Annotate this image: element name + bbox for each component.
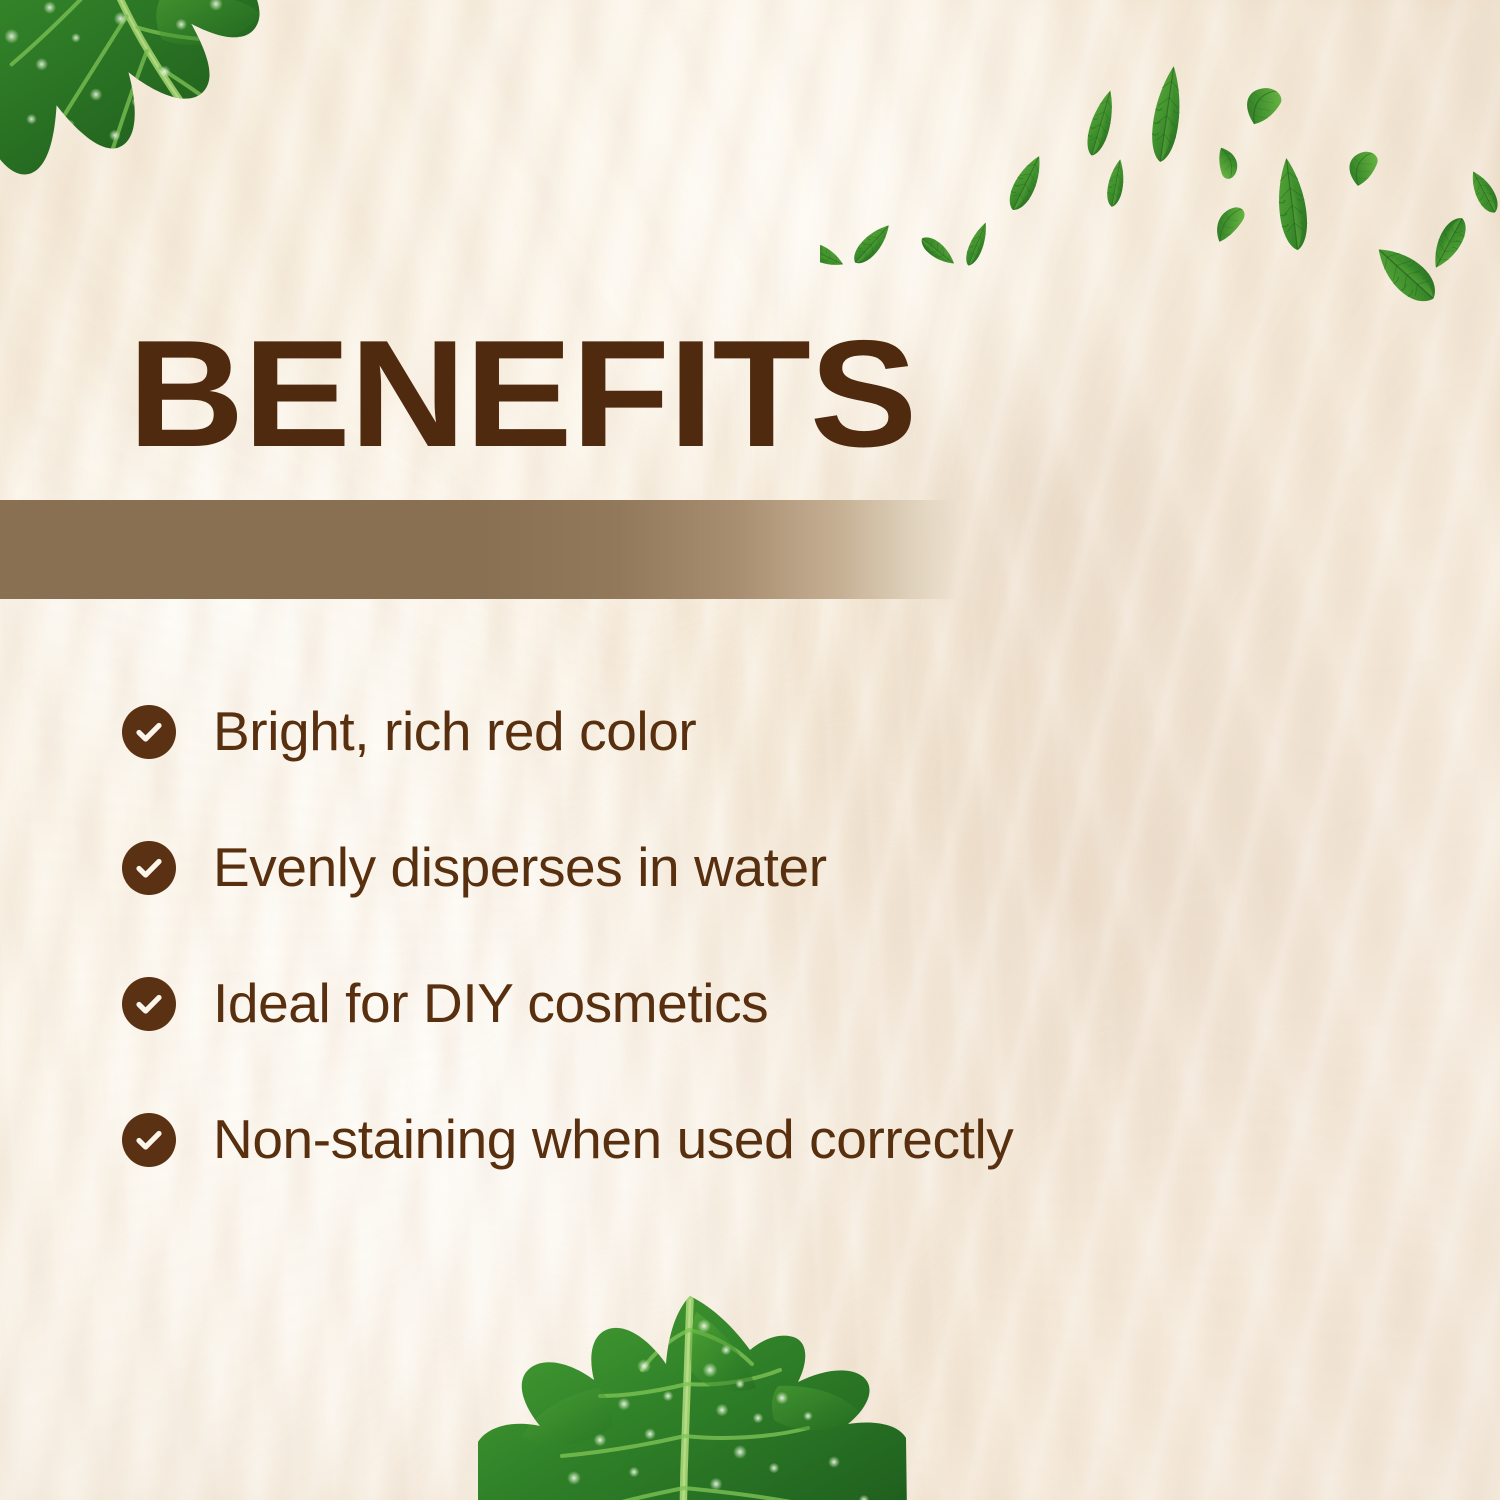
monstera-leaf-icon: [478, 1292, 908, 1500]
list-item: Evenly disperses in water: [122, 800, 1422, 936]
benefit-text: Ideal for DIY cosmetics: [213, 975, 768, 1033]
benefit-text: Evenly disperses in water: [213, 839, 827, 897]
benefits-list: Bright, rich red color Evenly disperses …: [122, 664, 1422, 1208]
check-circle-icon: [122, 977, 176, 1031]
monstera-leaf-icon: [0, 0, 375, 335]
list-item: Non-staining when used correctly: [122, 1072, 1422, 1208]
benefit-text: Non-staining when used correctly: [213, 1111, 1013, 1169]
check-circle-icon: [122, 705, 176, 759]
flying-leaves-icon: [820, 50, 1500, 330]
benefit-text: Bright, rich red color: [213, 703, 696, 761]
infographic-canvas: BENEFITS Bright, rich red color Evenly d…: [0, 0, 1500, 1500]
check-circle-icon: [122, 1113, 176, 1167]
list-item: Bright, rich red color: [122, 664, 1422, 800]
check-circle-icon: [122, 841, 176, 895]
page-title: BENEFITS: [128, 318, 916, 470]
list-item: Ideal for DIY cosmetics: [122, 936, 1422, 1072]
section-divider-bar: [0, 500, 1000, 599]
